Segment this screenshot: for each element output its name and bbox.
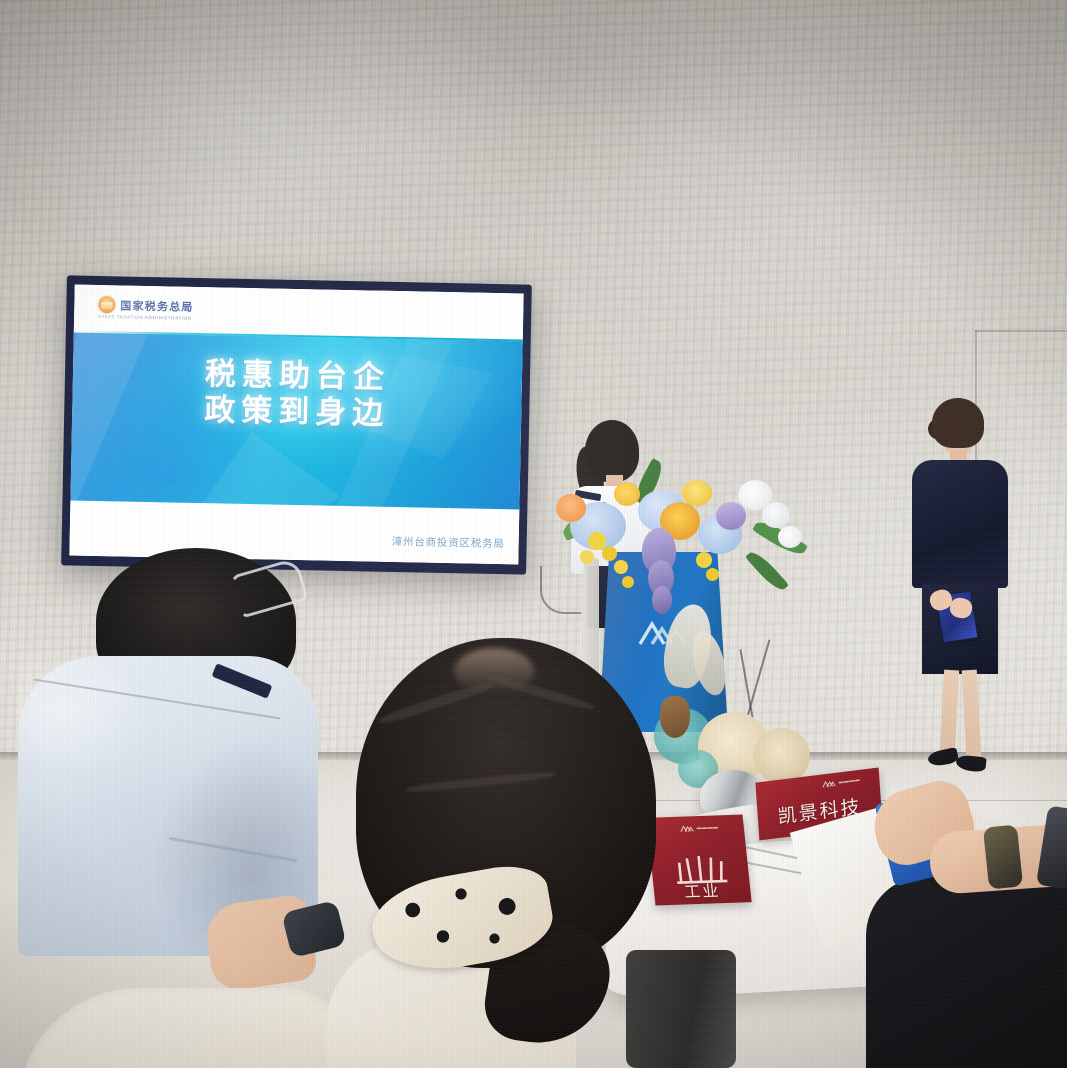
display-screen: 国家税务总局 STATE TAXATION ADMINISTRATION 税惠助… xyxy=(69,285,523,565)
flower-white xyxy=(778,526,802,548)
hands-foreground xyxy=(866,780,1067,1068)
slide-title-line-2: 政策到身边 xyxy=(72,390,522,435)
conference-room-photo: 国家税务总局 STATE TAXATION ADMINISTRATION 税惠助… xyxy=(0,0,1067,1068)
smartphone xyxy=(1036,805,1067,890)
slide-title: 税惠助台企 政策到身边 xyxy=(72,355,522,436)
flower-chrysanthemum xyxy=(614,482,640,506)
flower-mimosa xyxy=(602,546,617,561)
attendant-suit-jacket xyxy=(912,460,1008,588)
wall-panel-seam-horizontal xyxy=(975,330,1067,332)
flower-mimosa xyxy=(580,550,594,564)
attendant-shoe xyxy=(955,754,986,772)
attendant-shoe xyxy=(927,747,959,768)
attendant-leg xyxy=(940,670,959,755)
seat-chair xyxy=(18,988,348,1068)
slide-footer-org: 漳州台商投资区税务局 xyxy=(392,534,505,551)
seated-officer-foreground xyxy=(18,548,378,1068)
chevron-logo-icon xyxy=(821,779,835,789)
wristwatch xyxy=(983,824,1023,889)
slide-org-logo-text: 国家税务总局 xyxy=(120,297,194,314)
flower-mimosa xyxy=(622,576,634,588)
slide-org-logo: 国家税务总局 xyxy=(98,296,194,315)
national-emblem-icon xyxy=(98,296,115,313)
pampas-plume xyxy=(686,627,731,698)
flower-chrysanthemum xyxy=(556,494,586,522)
dried-cream-bloom xyxy=(754,728,810,784)
flower-leaf xyxy=(745,548,789,595)
plate-logo: ▬▬▬▬ xyxy=(821,776,860,789)
flower-chrysanthemum xyxy=(682,480,712,506)
plate-logo-text: ▬▬▬▬ xyxy=(696,824,718,831)
slide-org-logo-subtext: STATE TAXATION ADMINISTRATION xyxy=(98,314,191,321)
flower-mimosa xyxy=(696,552,712,568)
presentation-slide: 国家税务总局 STATE TAXATION ADMINISTRATION 税惠助… xyxy=(69,285,523,565)
slide-title-band: 税惠助台企 政策到身边 xyxy=(70,333,522,511)
band-facet xyxy=(190,431,342,511)
flower-mimosa xyxy=(614,560,628,574)
flower-mimosa xyxy=(706,568,719,581)
attendant-leg xyxy=(962,670,982,759)
flower-orchid xyxy=(716,502,746,530)
wall-display[interactable]: 国家税务总局 STATE TAXATION ADMINISTRATION 税惠助… xyxy=(61,275,532,574)
foreground-torso xyxy=(866,876,1067,1068)
seated-woman-foreground xyxy=(336,638,686,1068)
attendant-hair xyxy=(932,398,984,448)
standing-attendant xyxy=(898,398,1024,780)
plate-logo-text: ▬▬▬▬ xyxy=(838,777,860,786)
flower-white xyxy=(762,502,790,528)
